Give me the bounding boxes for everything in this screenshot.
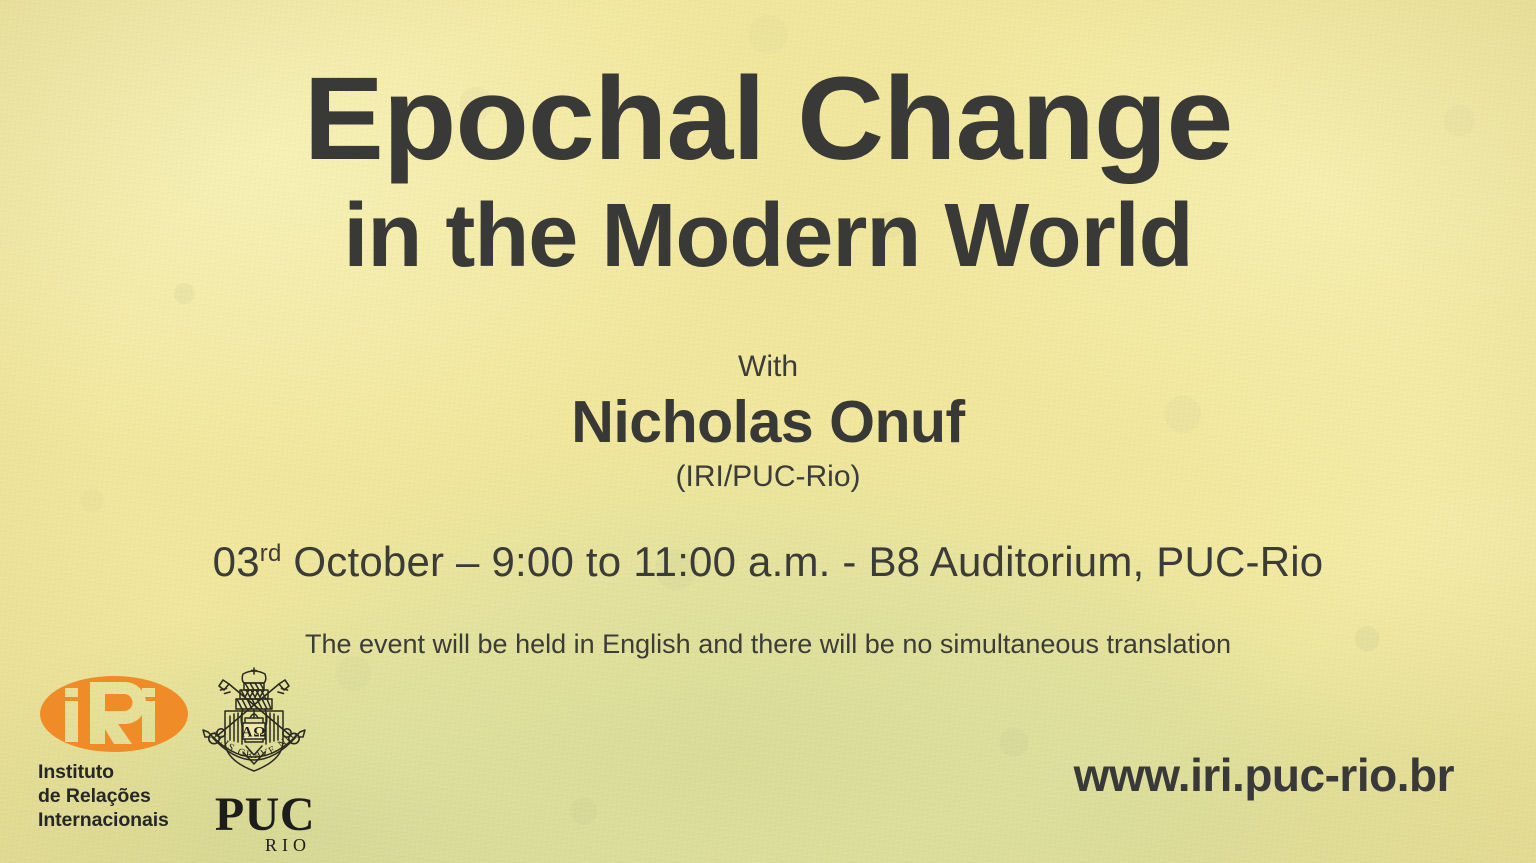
iri-wordmark: Instituto de Relações Internacionais xyxy=(38,761,190,832)
iri-logo[interactable]: Instituto de Relações Internacionais xyxy=(38,672,190,832)
speaker-name: Nicholas Onuf xyxy=(0,388,1536,456)
puc-wordmark: PUC xyxy=(193,793,315,837)
shield-letters: ΑΩ xyxy=(242,725,267,741)
event-day: 03 xyxy=(213,538,260,585)
iri-name-line-3: Internacionais xyxy=(38,809,190,833)
title-block: Epochal Change in the Modern World xyxy=(0,62,1536,280)
event-day-suffix: rd xyxy=(260,540,282,567)
poster-title-line-1: Epochal Change xyxy=(0,62,1536,178)
puc-rio-logo[interactable]: ΑΩ ALIS GRAVE NIL PUC RIO xyxy=(193,666,315,856)
website-url[interactable]: www.iri.puc-rio.br xyxy=(1074,748,1454,802)
language-note: The event will be held in English and th… xyxy=(0,629,1536,660)
speaker-affiliation: (IRI/PUC-Rio) xyxy=(0,460,1536,494)
with-label: With xyxy=(0,350,1536,384)
iri-name-line-2: de Relações xyxy=(38,785,190,809)
event-datetime-location: 03rd October – 9:00 to 11:00 a.m. - B8 A… xyxy=(0,538,1536,586)
poster-title-line-2: in the Modern World xyxy=(0,192,1536,280)
iri-mark-icon xyxy=(38,672,190,756)
event-poster: Epochal Change in the Modern World With … xyxy=(0,0,1536,863)
event-details: October – 9:00 to 11:00 a.m. - B8 Audito… xyxy=(282,538,1324,585)
iri-name-line-1: Instituto xyxy=(38,761,190,785)
puc-crest-icon: ΑΩ ALIS GRAVE NIL xyxy=(193,666,315,791)
